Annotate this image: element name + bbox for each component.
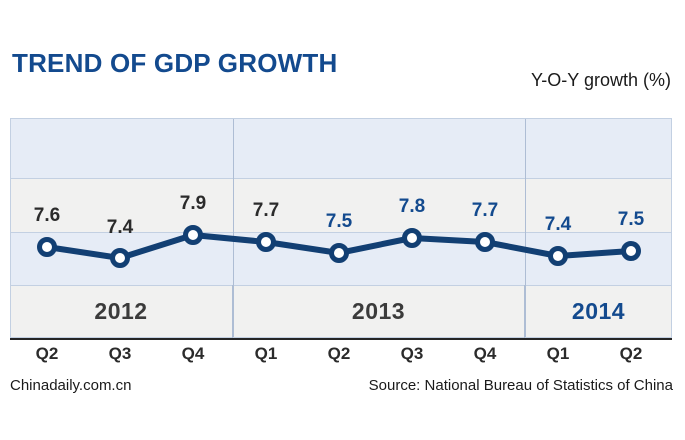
year-label-2014: 2014 <box>525 285 672 338</box>
source-credit: Source: National Bureau of Statistics of… <box>369 377 673 394</box>
quarter-label-8: Q1 <box>547 344 570 364</box>
year-label-2012: 2012 <box>10 285 232 338</box>
quarter-label-3: Q4 <box>182 344 205 364</box>
quarter-label-4: Q1 <box>255 344 278 364</box>
value-label-q3-2012: 7.4 <box>107 217 133 239</box>
gdp-growth-infographic: TREND OF GDP GROWTH Y-O-Y growth (%) 7.6… <box>0 0 685 440</box>
page-title: TREND OF GDP GROWTH <box>12 48 337 79</box>
x-axis-rule <box>10 338 672 340</box>
quarter-label-7: Q4 <box>474 344 497 364</box>
value-label-q4-2013: 7.7 <box>472 200 498 222</box>
year-label-2013: 2013 <box>233 285 524 338</box>
band-3 <box>11 232 671 285</box>
quarter-label-6: Q3 <box>401 344 424 364</box>
value-label-q2-2012: 7.6 <box>34 205 60 227</box>
year-band: 2012 2013 2014 <box>10 285 672 338</box>
quarter-label-1: Q2 <box>36 344 59 364</box>
value-label-q4-2012: 7.9 <box>180 193 206 215</box>
brand-credit: Chinadaily.com.cn <box>10 377 131 394</box>
value-label-q3-2013: 7.8 <box>399 196 425 218</box>
value-label-q2-2013: 7.5 <box>326 211 352 233</box>
quarter-label-5: Q2 <box>328 344 351 364</box>
quarter-label-2: Q3 <box>109 344 132 364</box>
value-label-q1-2014: 7.4 <box>545 214 571 236</box>
quarter-label-9: Q2 <box>620 344 643 364</box>
band-1 <box>11 119 671 178</box>
value-label-q2-2014: 7.5 <box>618 209 644 231</box>
value-label-q1-2013: 7.7 <box>253 200 279 222</box>
chart-subtitle: Y-O-Y growth (%) <box>531 70 671 91</box>
